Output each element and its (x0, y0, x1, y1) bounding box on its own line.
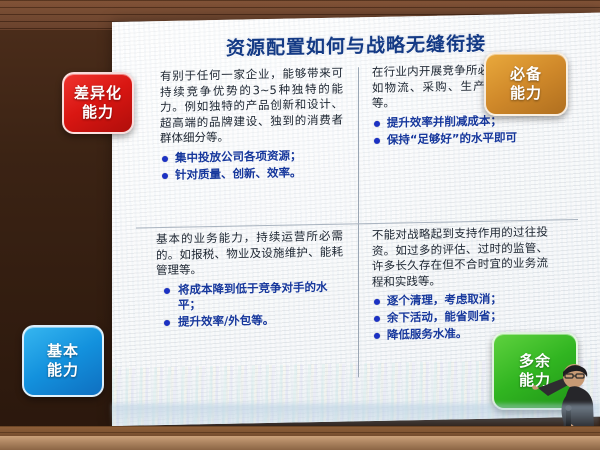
bullet-item: 集中投放公司各项资源； (160, 147, 343, 166)
badge-line-2: 能力 (82, 103, 114, 122)
bullet-item: 将成本降到低于竞争对手的水平； (156, 279, 343, 313)
quadrant-paragraph: 有别于任何一家企业，能够带来可持续竞争优势的3~5种独特的能力。例如独特的产品创… (160, 66, 343, 147)
badge-line-2: 能力 (510, 84, 542, 103)
bullet-item: 提升效率/外包等。 (156, 311, 343, 330)
quadrant-bullet-list: 将成本降到低于竞争对手的水平； 提升效率/外包等。 (156, 279, 343, 330)
front-desk-edge (0, 436, 600, 450)
quadrant-differentiating-capability: 有别于任何一家企业，能够带来可持续竞争优势的3~5种独特的能力。例如独特的产品创… (136, 63, 357, 225)
quadrant-bullet-list: 集中投放公司各项资源； 针对质量、创新、效率。 (160, 147, 343, 183)
quadrant-bullet-list: 提升效率并削减成本； 保持“足够好”的水平即可 (372, 112, 548, 147)
badge-line-2: 能力 (47, 361, 79, 380)
badge-line-1: 差异化 (74, 84, 122, 103)
quadrant-paragraph: 不能对战略起到支持作用的过往投资。如过多的评估、过时的监管、许多长久存在但不合时… (372, 225, 548, 290)
photo-of-presentation: 资源配置如何与战略无缝衔接 有别于任何一家企业，能够带来可持续竞争优势的3~5种… (0, 0, 600, 450)
badge-differentiating-capability: 差异化 能力 (62, 72, 134, 134)
bullet-item: 余下活动，能省则省； (372, 308, 548, 326)
quadrant-paragraph: 基本的业务能力，持续运营所必需的。如报税、物业及设施维护、能耗管理等。 (156, 229, 343, 279)
quadrant-basic-capability: 基本的业务能力，持续运营所必需的。如报税、物业及设施维护、能耗管理等。 将成本降… (136, 224, 357, 383)
badge-essential-capability: 必备 能力 (484, 52, 568, 116)
badge-basic-capability: 基本 能力 (22, 325, 104, 397)
bullet-item: 针对质量、创新、效率。 (160, 164, 343, 183)
badge-line-1: 必备 (510, 65, 542, 84)
bullet-item: 逐个清理，考虑取消； (372, 291, 548, 309)
bullet-item: 保持“足够好”的水平即可 (372, 129, 548, 147)
badge-line-1: 基本 (47, 342, 79, 361)
